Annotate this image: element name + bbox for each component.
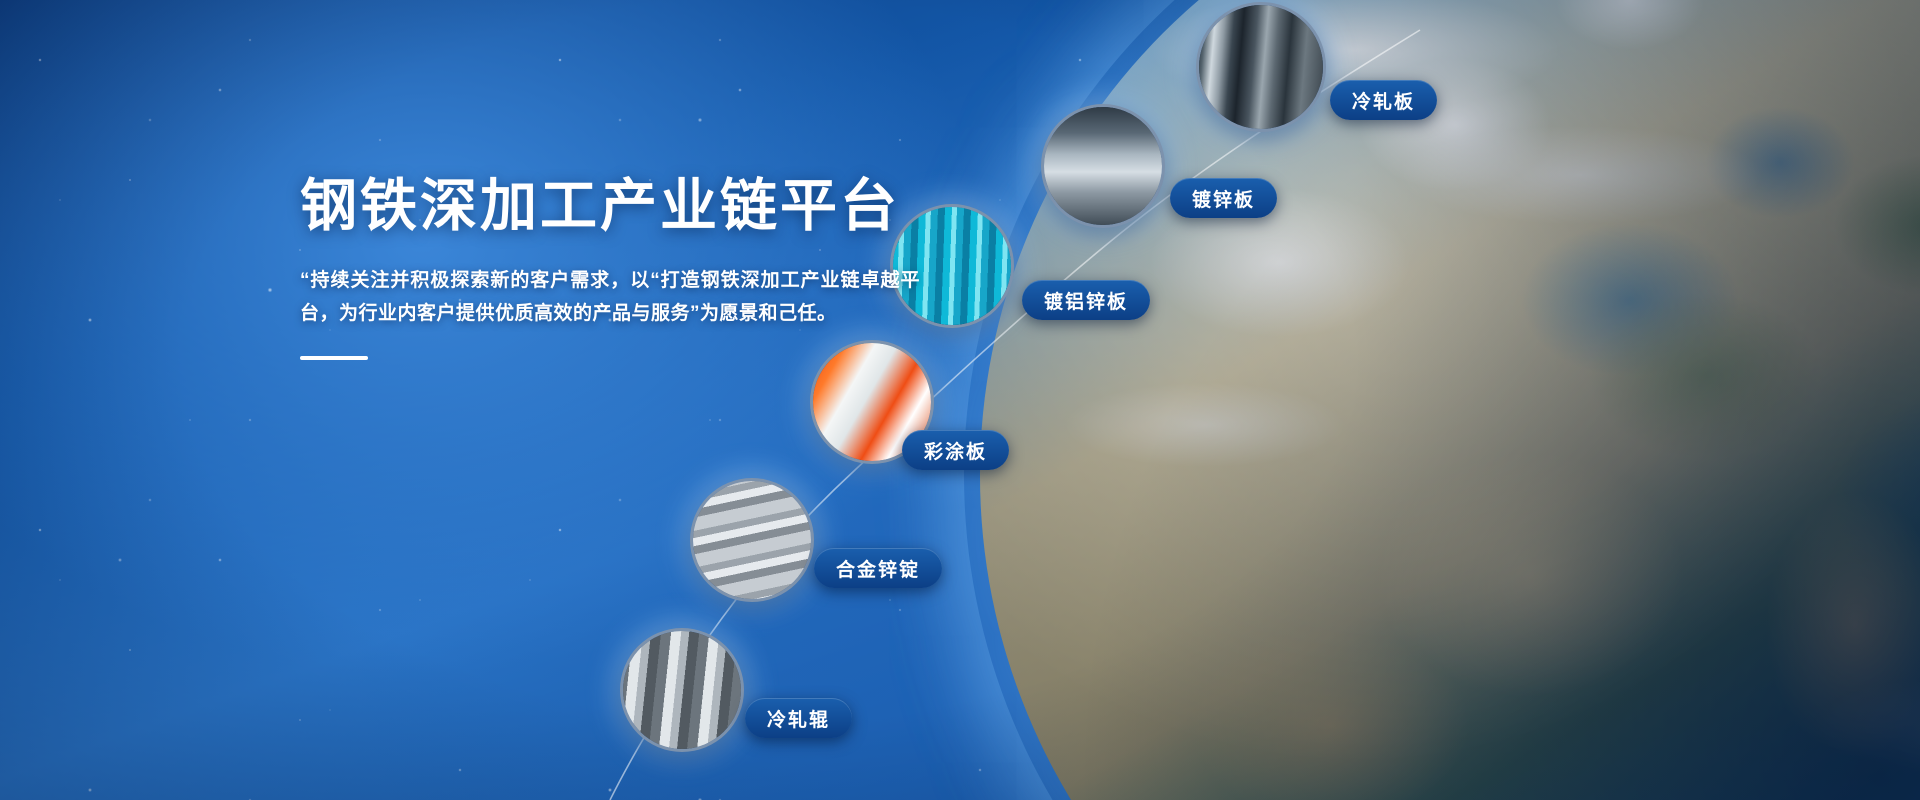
product-image-galvanized-plate	[1041, 104, 1165, 228]
banner-copy: 钢铁深加工产业链平台 “持续关注并积极探索新的客户需求，以“打造钢铁深加工产业链…	[300, 175, 920, 360]
banner-subtitle: “持续关注并积极探索新的客户需求，以“打造钢铁深加工产业链卓越平台，为行业内客户…	[300, 264, 920, 331]
product-node-cold-rolled-plate[interactable]	[1196, 0, 1326, 132]
product-label-aluzinc-plate[interactable]: 镀铝锌板	[1022, 280, 1150, 320]
product-node-cold-rolling-roll[interactable]	[620, 628, 744, 752]
hero-banner: 冷轧板 镀锌板 镀铝锌板 彩涂板 合金锌锭 冷轧辊 钢铁深加工产业链平台 “持续	[0, 0, 1920, 800]
page-title: 钢铁深加工产业链平台	[300, 175, 920, 238]
product-image-zinc-alloy-ingot	[690, 478, 814, 602]
product-image-cold-rolled-plate	[1196, 2, 1326, 132]
title-divider	[300, 356, 368, 360]
product-node-zinc-alloy-ingot[interactable]	[690, 478, 814, 602]
product-label-cold-rolling-roll[interactable]: 冷轧辊	[745, 698, 852, 738]
product-label-cold-rolled-plate[interactable]: 冷轧板	[1330, 80, 1437, 120]
product-label-galvanized-plate[interactable]: 镀锌板	[1170, 178, 1277, 218]
product-image-cold-rolling-roll	[620, 628, 744, 752]
product-label-zinc-alloy-ingot[interactable]: 合金锌锭	[814, 548, 942, 588]
product-node-galvanized-plate[interactable]	[1041, 104, 1165, 228]
product-label-color-coated-plate[interactable]: 彩涂板	[902, 430, 1009, 470]
